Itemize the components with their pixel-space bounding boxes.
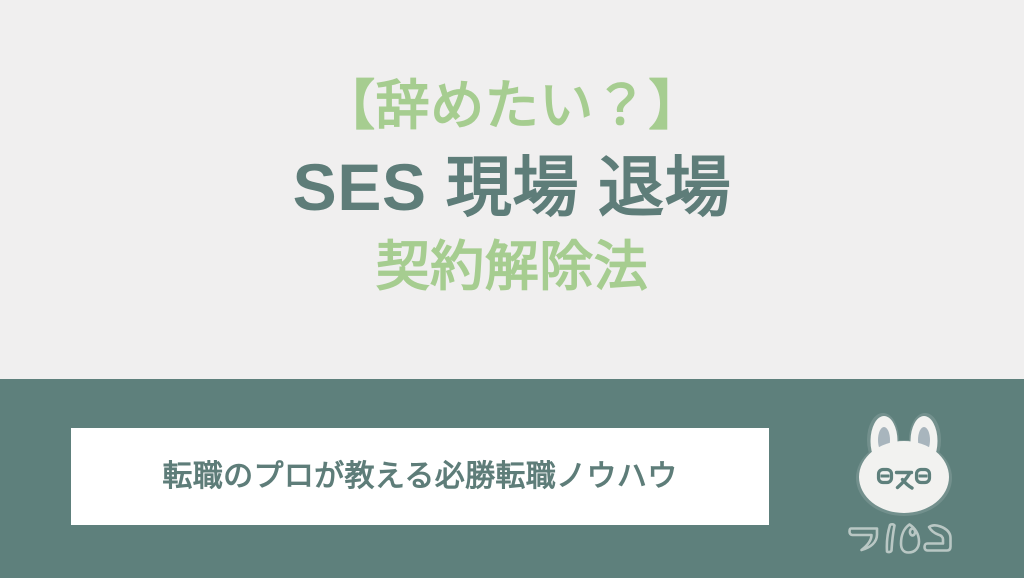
top-panel: 【辞めたい？】 SES 現場 退場 契約解除法 (0, 0, 1024, 379)
title-line-main: SES 現場 退場 (0, 145, 1024, 231)
title-line-sub: 契約解除法 (0, 232, 1024, 303)
title-line-kicker: 【辞めたい？】 (0, 71, 1024, 142)
subtitle-text: 転職のプロが教える必勝転職ノウハウ (162, 462, 677, 492)
rabbit-mascot-icon (843, 412, 965, 564)
subtitle-banner: 転職のプロが教える必勝転職ノウハウ (71, 428, 769, 525)
logo-wordmark (850, 524, 951, 552)
thumbnail-canvas: 【辞めたい？】 SES 現場 退場 契約解除法 転職のプロが教える必勝転職ノウハ… (0, 0, 1024, 578)
title-block: 【辞めたい？】 SES 現場 退場 契約解除法 (0, 0, 1024, 379)
brand-logo (843, 412, 965, 564)
